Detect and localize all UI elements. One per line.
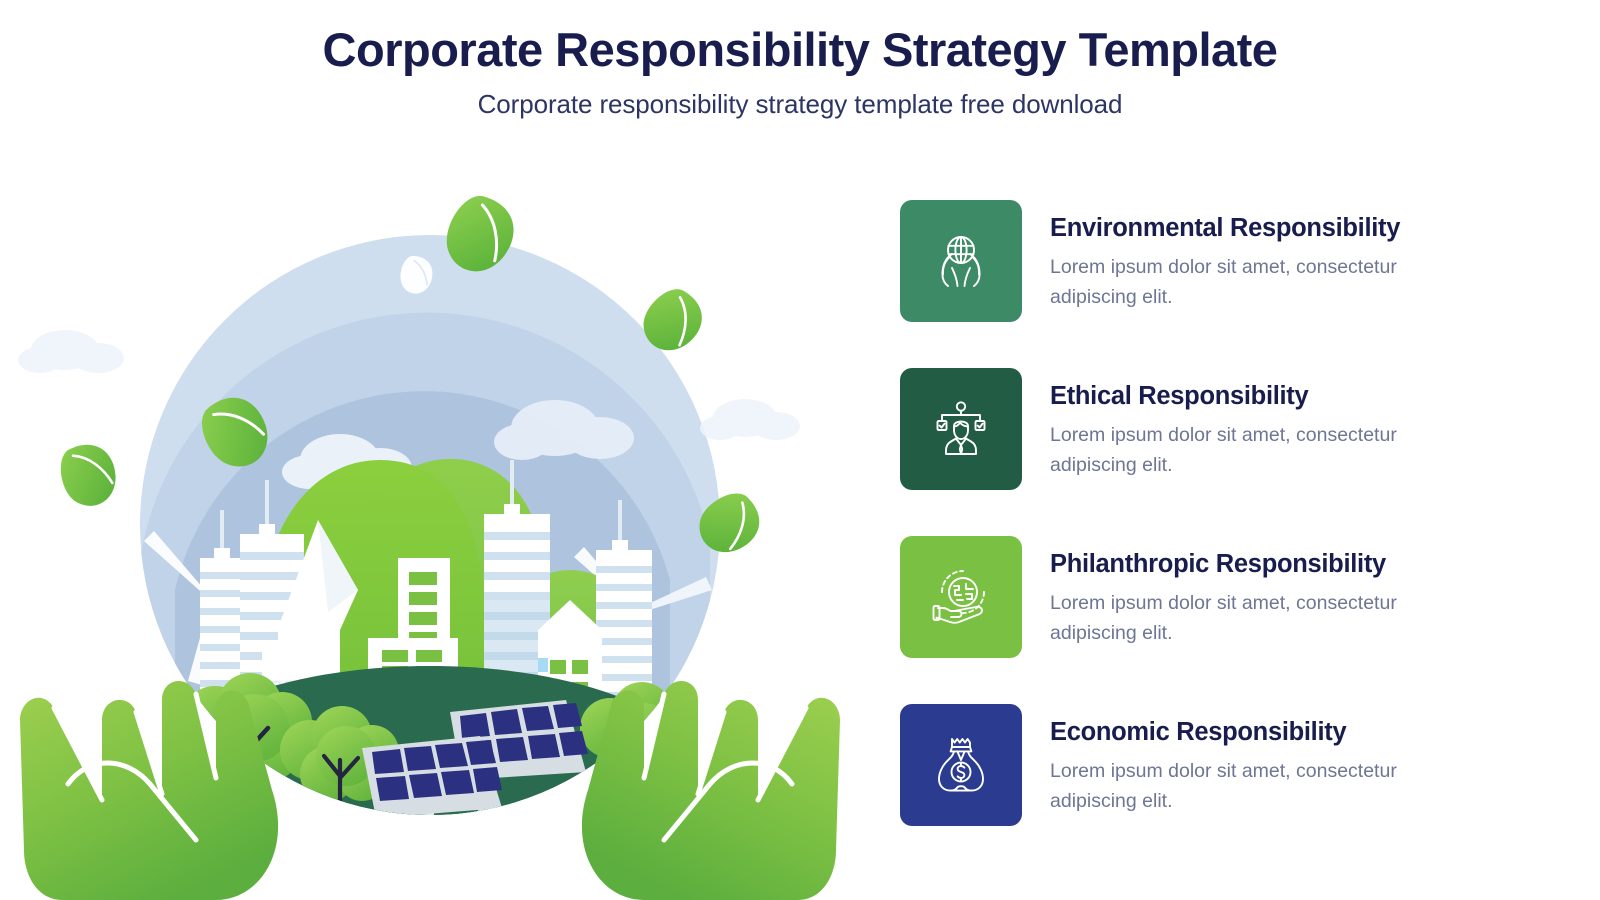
feature-item-environmental[interactable]: Environmental Responsibility Lorem ipsum… (900, 200, 1540, 322)
globe-in-hands-icon (928, 228, 994, 294)
feature-title: Economic Responsibility (1050, 718, 1470, 746)
hand-holding-globe-icon (928, 564, 994, 630)
feature-list: Environmental Responsibility Lorem ipsum… (900, 200, 1540, 826)
feature-icon-tile-economic[interactable] (900, 704, 1022, 826)
feature-title: Environmental Responsibility (1050, 214, 1470, 242)
feature-item-ethical[interactable]: Ethical Responsibility Lorem ipsum dolor… (900, 368, 1540, 490)
feature-icon-tile-philanthropic[interactable] (900, 536, 1022, 658)
header: Corporate Responsibility Strategy Templa… (0, 22, 1600, 120)
feature-title: Ethical Responsibility (1050, 382, 1470, 410)
person-decision-checkbox-icon (928, 396, 994, 462)
feature-text-economic: Economic Responsibility Lorem ipsum dolo… (1050, 704, 1470, 816)
feature-text-philanthropic: Philanthropic Responsibility Lorem ipsum… (1050, 536, 1470, 648)
slide-root: Corporate Responsibility Strategy Templa… (0, 0, 1600, 900)
feature-description: Lorem ipsum dolor sit amet, consectetur … (1050, 421, 1470, 480)
feature-item-philanthropic[interactable]: Philanthropic Responsibility Lorem ipsum… (900, 536, 1540, 658)
feature-icon-tile-environmental[interactable] (900, 200, 1022, 322)
feature-text-ethical: Ethical Responsibility Lorem ipsum dolor… (1050, 368, 1470, 480)
feature-icon-tile-ethical[interactable] (900, 368, 1022, 490)
feature-title: Philanthropic Responsibility (1050, 550, 1470, 578)
page-subtitle: Corporate responsibility strategy templa… (0, 89, 1600, 120)
feature-item-economic[interactable]: Economic Responsibility Lorem ipsum dolo… (900, 704, 1540, 826)
money-bag-dollar-icon (928, 732, 994, 798)
page-title: Corporate Responsibility Strategy Templa… (0, 22, 1600, 77)
feature-text-environmental: Environmental Responsibility Lorem ipsum… (1050, 200, 1470, 312)
left-hand (20, 681, 278, 900)
green-city-in-hands-illustration (10, 160, 850, 900)
feature-description: Lorem ipsum dolor sit amet, consectetur … (1050, 757, 1470, 816)
feature-description: Lorem ipsum dolor sit amet, consectetur … (1050, 253, 1470, 312)
feature-description: Lorem ipsum dolor sit amet, consectetur … (1050, 589, 1470, 648)
right-hand (582, 681, 840, 900)
